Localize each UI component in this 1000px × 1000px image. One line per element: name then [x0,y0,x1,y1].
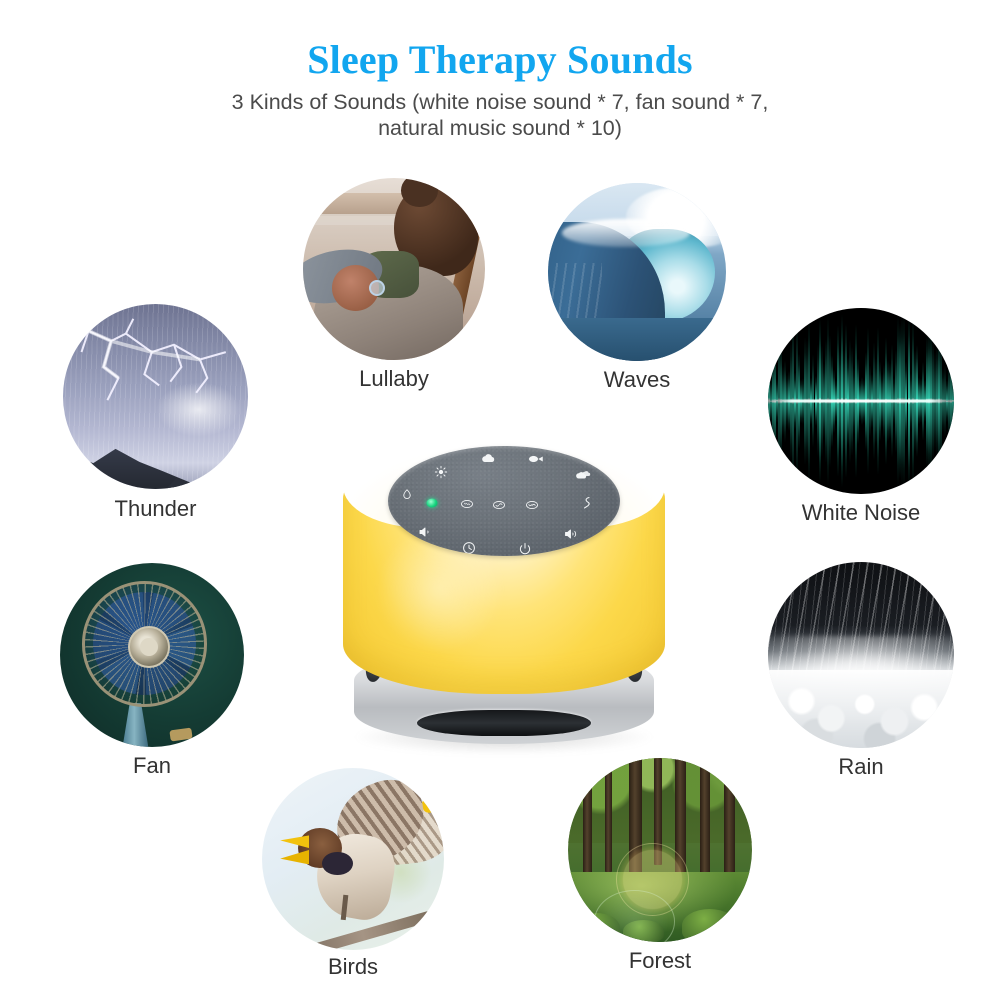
category-rain[interactable]: Rain [768,562,954,748]
volume-up-icon[interactable] [564,528,578,540]
device-control-panel[interactable] [388,446,620,556]
lightning-bolt-icon [63,304,248,489]
audio-waveform-image [768,308,954,494]
sound-3-icon[interactable] [525,500,538,510]
waves-thumbnail [548,183,726,361]
swallow-on-branch-image [262,768,444,950]
speaker-grille [417,710,590,736]
ocean-barrel-wave-image [548,183,726,361]
page-title: Sleep Therapy Sounds [0,36,1000,83]
category-label: Rain [838,754,883,780]
power-icon[interactable] [518,542,532,556]
category-label: Lullaby [359,366,429,392]
sleep-sound-machine[interactable] [336,418,672,744]
category-white-noise[interactable]: White Noise [768,308,954,494]
sound-2-icon[interactable] [493,500,506,510]
clouds-icon[interactable] [575,470,590,480]
lightning-storm-image [63,304,248,489]
fan-thumbnail [60,563,244,747]
category-lullaby[interactable]: Lullaby [303,178,485,360]
sound-1-icon[interactable] [460,499,473,509]
category-waves[interactable]: Waves [548,183,726,361]
category-label: Thunder [115,496,197,522]
birds-thumbnail [262,768,444,950]
category-thunder[interactable]: Thunder [63,304,248,489]
category-label: Waves [604,367,670,393]
parent-holding-baby-image [303,178,485,360]
category-label: Fan [133,753,171,779]
cloud-icon[interactable] [481,453,495,464]
vintage-electric-fan-image [60,563,244,747]
volume-down-icon[interactable] [419,526,432,538]
page-subtitle: 3 Kinds of Sounds (white noise sound * 7… [230,89,770,141]
rain-thumbnail [768,562,954,748]
music-note-icon[interactable] [583,496,592,510]
category-label: Birds [328,954,378,980]
thunder-thumbnail [63,304,248,489]
lullaby-thumbnail [303,178,485,360]
led-indicator[interactable] [427,499,438,508]
infographic-canvas: Sleep Therapy Sounds 3 Kinds of Sounds (… [0,0,1000,1000]
forest-thumbnail [568,758,752,942]
category-label: Forest [629,948,691,974]
white-noise-thumbnail [768,308,954,494]
timer-icon[interactable] [462,541,476,555]
sunlit-forest-image [568,758,752,942]
fish-icon[interactable] [529,455,544,464]
category-fan[interactable]: Fan [60,563,244,747]
category-birds[interactable]: Birds [262,768,444,950]
rain-splash-image [768,562,954,748]
droplet-icon[interactable] [402,489,411,500]
brightness-icon[interactable] [435,466,448,479]
category-label: White Noise [802,500,921,526]
category-forest[interactable]: Forest [568,758,752,942]
